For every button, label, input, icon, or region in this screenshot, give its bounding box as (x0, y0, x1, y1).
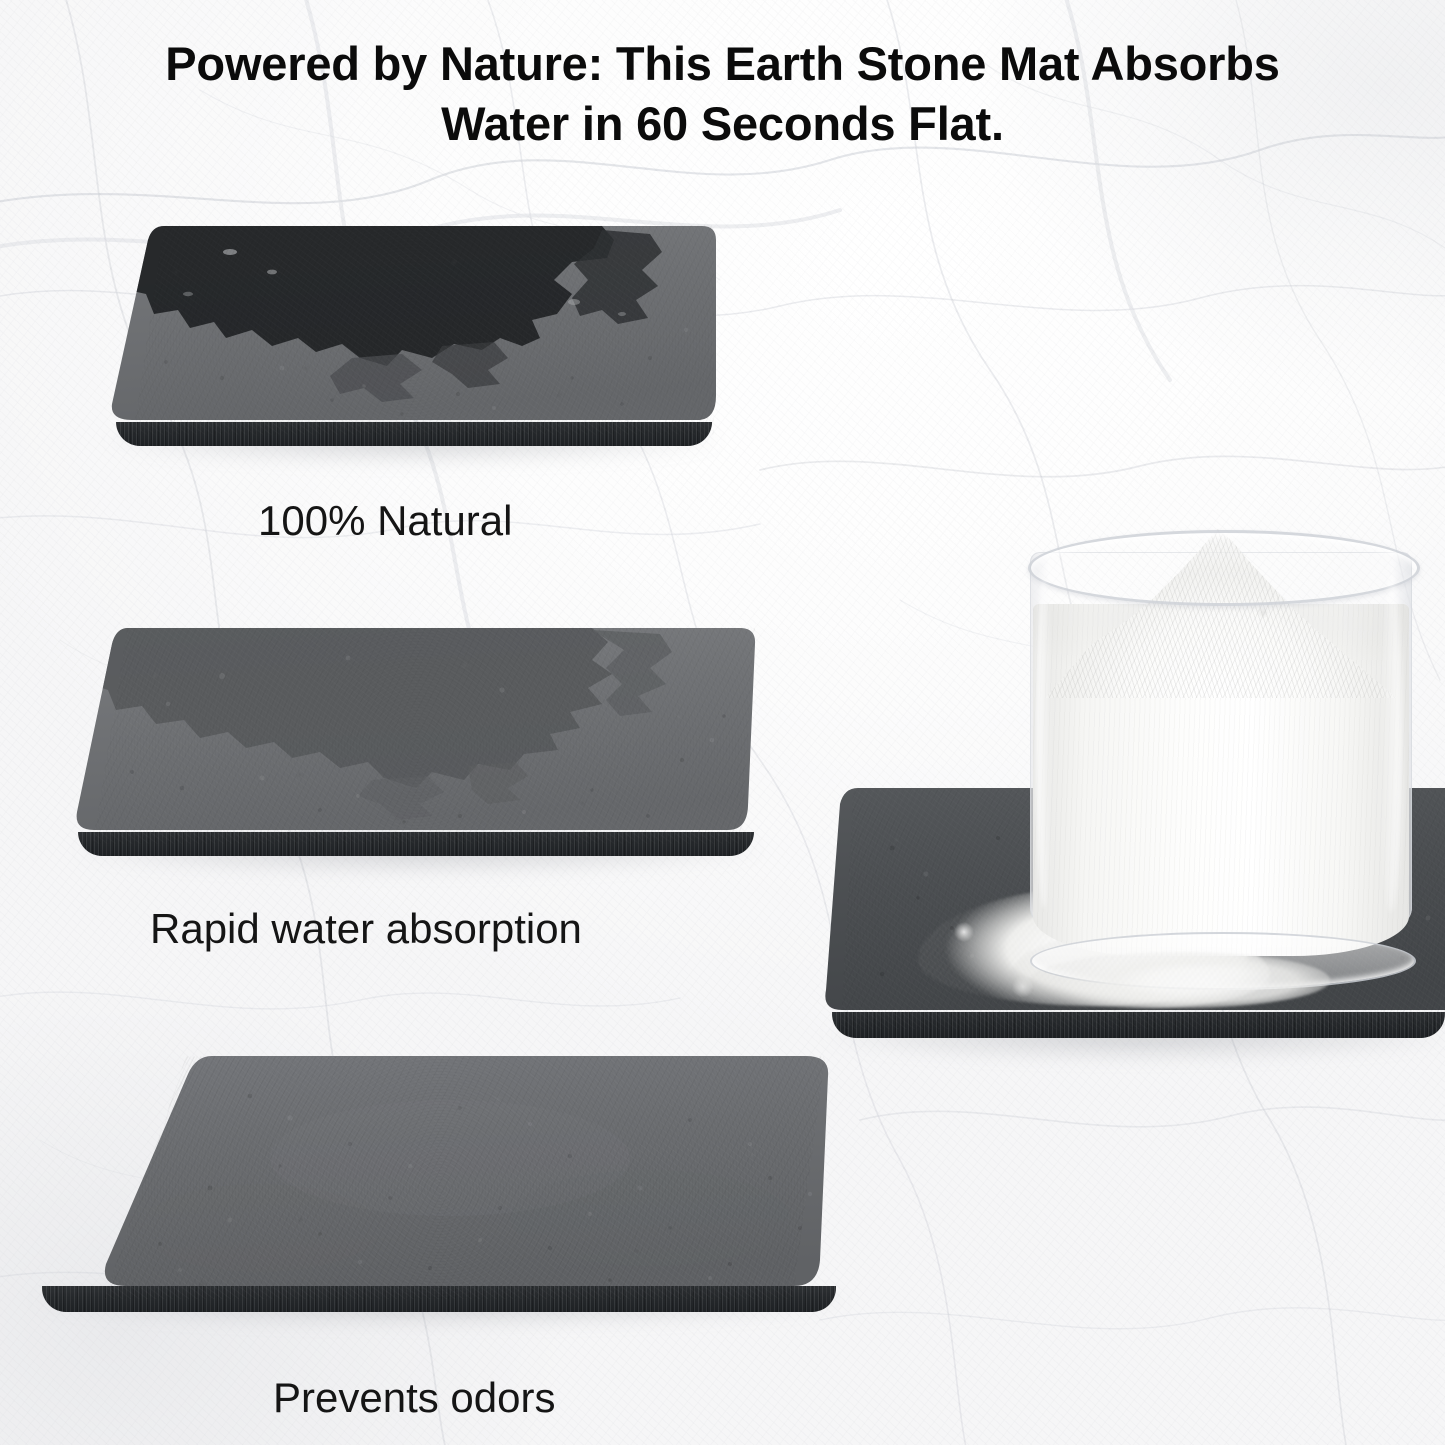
mat-wet-top-face (102, 218, 720, 448)
caption-100-percent-natural: 100% Natural (258, 497, 512, 545)
page-title: Powered by Nature: This Earth Stone Mat … (0, 34, 1445, 154)
caption-rapid-water-absorption: Rapid water absorption (150, 905, 582, 953)
caption-prevents-odors: Prevents odors (273, 1374, 555, 1422)
headline-line-2: Water in 60 Seconds Flat. (44, 94, 1401, 154)
stone-mat-damp (72, 620, 762, 874)
headline-line-1: Powered by Nature: This Earth Stone Mat … (44, 34, 1401, 94)
stone-mat-dry (30, 1048, 850, 1330)
mat-damp-top-face (72, 620, 762, 858)
glass-flour-jar (1030, 508, 1412, 976)
jar-highlight-left (1036, 578, 1052, 908)
jar-rim (1028, 530, 1420, 606)
stone-mat-soaked (102, 218, 720, 464)
flour-front-dusting (1030, 952, 1330, 1008)
product-image-scene: Powered by Nature: This Earth Stone Mat … (0, 0, 1445, 1445)
jar-highlight-right (1380, 572, 1402, 912)
mat-dry-top-face (30, 1048, 850, 1314)
